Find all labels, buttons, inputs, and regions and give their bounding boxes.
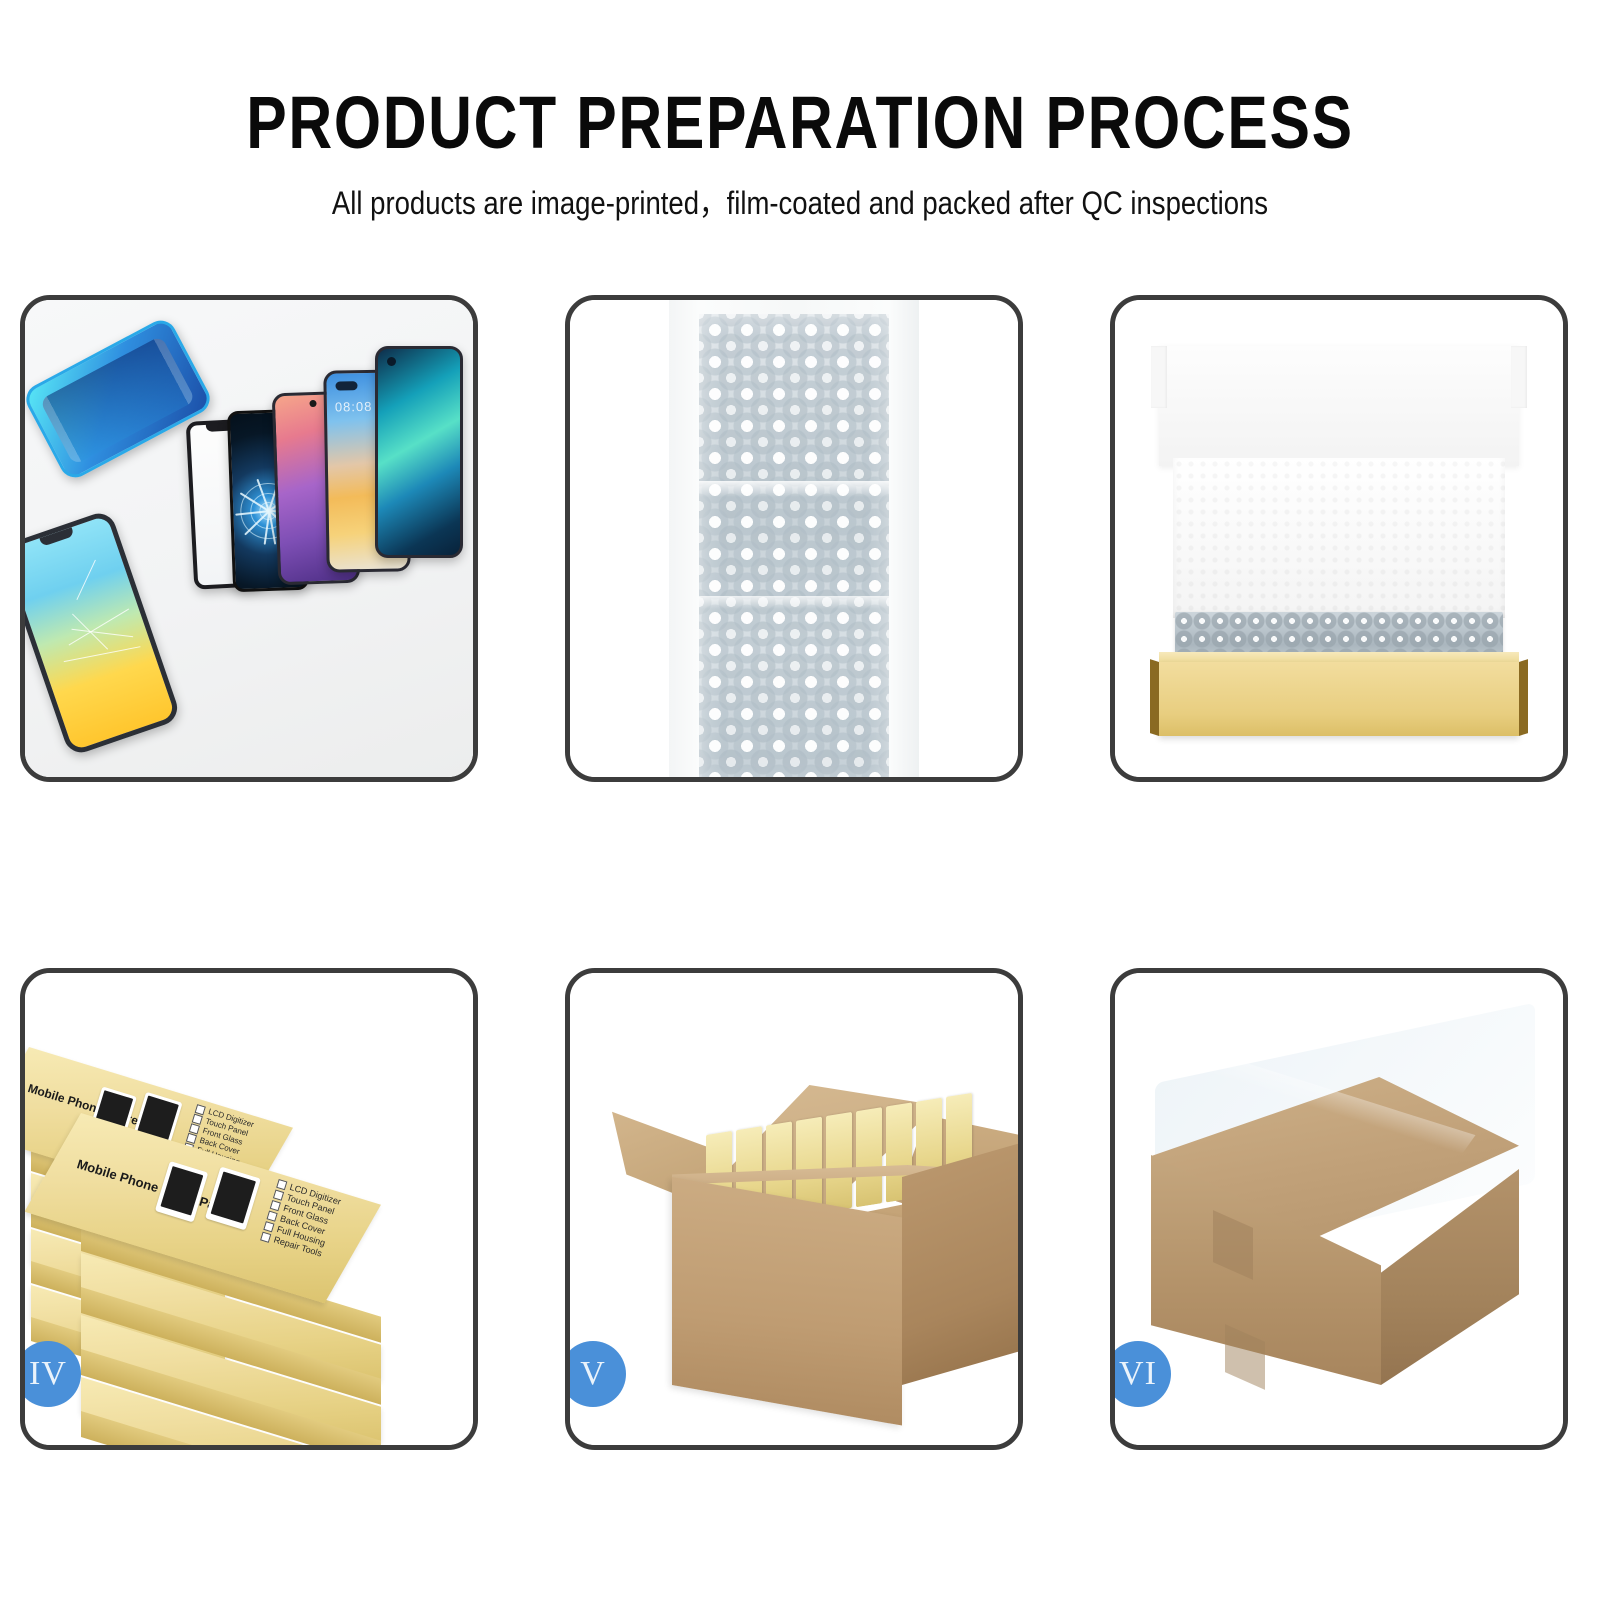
step-2-image	[570, 300, 1018, 777]
pouch-highlight-lower	[699, 596, 889, 609]
bubble-pouch-image	[669, 300, 919, 777]
retail-box-checklist-second: LCD Digitizer Touch Panel Front Glass Ba…	[260, 1178, 342, 1260]
sealed-carton-image	[1135, 1033, 1543, 1395]
step-panel-3[interactable]: III	[1110, 295, 1568, 782]
mailer-edge-left	[1150, 659, 1159, 736]
step-6-image	[1115, 973, 1563, 1445]
step-4-image: Mobile Phone Spare Parts LCD Digitizer T…	[25, 973, 473, 1445]
open-carton-image	[610, 1043, 998, 1385]
step-panel-5[interactable]: V	[565, 968, 1023, 1450]
retail-box-phone-thumb-a	[155, 1161, 208, 1222]
retail-box-phone-thumb-b	[205, 1167, 261, 1231]
phone-status-time: 08:08	[335, 399, 373, 415]
process-grid: 08:08	[0, 0, 1600, 1600]
punch-hole-camera-icon	[387, 357, 396, 366]
mailer-front-wall	[1159, 662, 1519, 736]
page-root: PRODUCT PREPARATION PROCESS All products…	[0, 0, 1600, 1600]
punch-hole-camera-icon	[335, 381, 357, 390]
step-panel-6[interactable]: VI	[1110, 968, 1568, 1450]
mailer-lid	[1159, 346, 1519, 466]
step-panel-4[interactable]: Mobile Phone Spare Parts LCD Digitizer T…	[20, 968, 478, 1450]
open-mailer-box-image	[1151, 346, 1527, 657]
carton-front-wall	[672, 1177, 902, 1426]
mailer-edge-right	[1519, 659, 1528, 736]
notch-icon	[39, 527, 74, 547]
bubble-wrap-pattern	[699, 314, 889, 777]
foam-sheet	[1173, 458, 1505, 618]
step-3-image	[1115, 300, 1563, 777]
step-panel-1[interactable]: 08:08	[20, 295, 478, 782]
step-1-image: 08:08	[25, 300, 473, 777]
pouch-highlight-upper	[699, 481, 889, 497]
carton-right-wall	[902, 1134, 1018, 1385]
phone-teal-display-image	[375, 346, 463, 558]
step-panel-2[interactable]: II	[565, 295, 1023, 782]
step-5-image	[570, 973, 1018, 1445]
